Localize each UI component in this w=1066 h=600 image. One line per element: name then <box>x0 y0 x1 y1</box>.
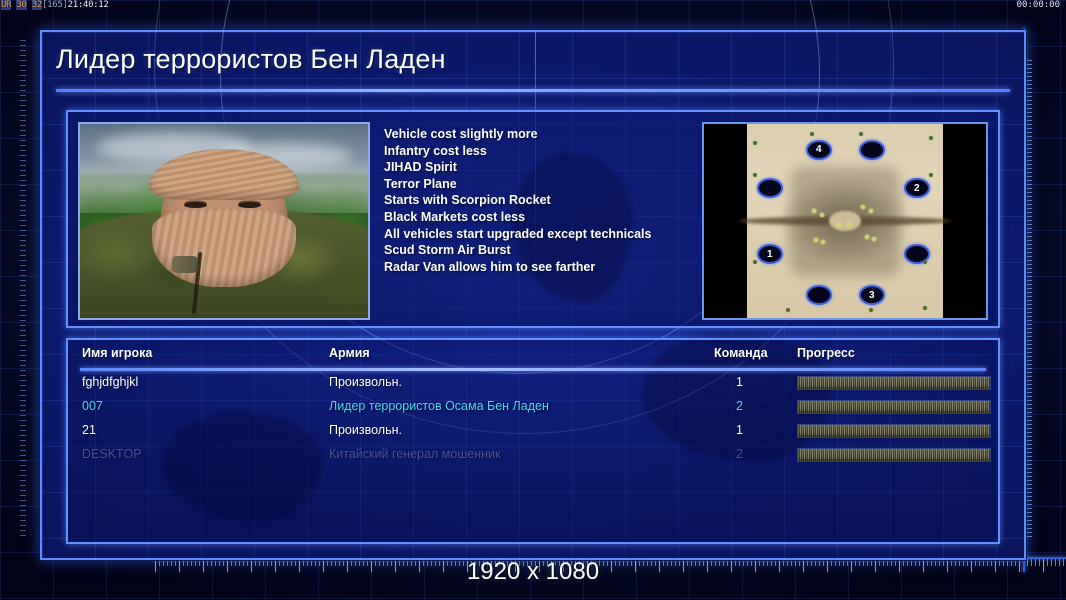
column-header-team: Команда <box>714 346 768 360</box>
player-progress-bar <box>797 376 991 390</box>
map-start-position <box>859 140 885 160</box>
map-tree <box>753 173 757 177</box>
map-preview-box[interactable]: 4 2 1 3 <box>702 122 988 320</box>
mission-timer: 00:00:00 <box>1017 0 1060 10</box>
player-army[interactable]: Китайский генерал мошенник <box>329 447 500 461</box>
map-resource <box>820 213 824 217</box>
map-tree <box>923 306 927 310</box>
general-select-window: Лидер террористов Бен Ладен <box>40 30 1026 560</box>
map-tree <box>929 136 933 140</box>
game-screen: UR 30 32[165]21:40:12 00:00:00 Лидер тер… <box>0 0 1066 600</box>
table-row[interactable]: DESKTOP Китайский генерал мошенник 2 <box>80 444 986 468</box>
table-row[interactable]: 007 Лидер террористов Осама Бен Ладен 2 <box>80 396 986 420</box>
player-name: 007 <box>82 399 103 413</box>
player-rows: fghjdfghjkl Произвольн. 1 007 Лидер терр… <box>80 372 986 468</box>
resolution-label: 1920 x 1080 <box>0 558 1066 586</box>
bonus-item: Vehicle cost slightly more <box>384 126 714 143</box>
map-tree <box>859 132 863 136</box>
player-army[interactable]: Лидер террористов Осама Бен Ладен <box>329 399 549 413</box>
map-resource <box>865 235 869 239</box>
map-start-position: 3 <box>859 285 885 305</box>
player-name: DESKTOP <box>82 447 142 461</box>
player-list-panel: Имя игрока Армия Команда Прогресс fghjdf… <box>66 338 1000 544</box>
map-tree <box>786 308 790 312</box>
portrait-canteen <box>172 256 198 273</box>
map-start-position <box>757 178 783 198</box>
player-team[interactable]: 1 <box>736 375 743 389</box>
player-team[interactable]: 2 <box>736 447 743 461</box>
player-name: fghjdfghjkl <box>82 375 138 389</box>
progress-fill <box>798 377 990 389</box>
general-info-panel: Vehicle cost slightly more Infantry cost… <box>66 110 1000 328</box>
debug-value-2: 32 <box>32 0 42 10</box>
map-tree <box>923 260 927 264</box>
map-start-position: 2 <box>904 178 930 198</box>
player-progress-bar <box>797 448 991 462</box>
portrait-eye-left <box>184 202 207 209</box>
map-tree <box>753 260 757 264</box>
debug-value-3: [165] <box>42 0 68 10</box>
player-army[interactable]: Произвольн. <box>329 375 402 389</box>
column-header-name: Имя игрока <box>82 346 152 360</box>
header-underline <box>80 368 986 371</box>
general-portrait <box>78 122 370 320</box>
bonus-item: Radar Van allows him to see farther <box>384 259 714 276</box>
map-start-position: 4 <box>806 140 832 160</box>
map-tree <box>753 141 757 145</box>
player-team[interactable]: 1 <box>736 423 743 437</box>
bonus-item: Terror Plane <box>384 176 714 193</box>
debug-value-1: 30 <box>16 0 26 10</box>
map-start-position: 1 <box>757 244 783 264</box>
player-team[interactable]: 2 <box>736 399 743 413</box>
bonus-item: JIHAD Spirit <box>384 159 714 176</box>
debug-label-ur: UR <box>1 0 11 10</box>
player-list-header: Имя игрока Армия Команда Прогресс <box>80 346 986 368</box>
left-tick-ruler <box>14 40 26 540</box>
map-center-island <box>829 211 860 230</box>
map-tree <box>869 308 873 312</box>
map-start-position <box>806 285 832 305</box>
bonus-item: Starts with Scorpion Rocket <box>384 192 714 209</box>
right-tick-ruler <box>1025 60 1038 540</box>
player-progress-bar <box>797 400 991 414</box>
column-header-progress: Прогресс <box>797 346 855 360</box>
table-row[interactable]: 21 Произвольн. 1 <box>80 420 986 444</box>
page-title: Лидер террористов Бен Ладен <box>56 44 1010 75</box>
map-tree <box>810 132 814 136</box>
bonus-item: Scud Storm Air Burst <box>384 242 714 259</box>
player-army[interactable]: Произвольн. <box>329 423 402 437</box>
progress-fill <box>798 425 990 437</box>
bonus-item: All vehicles start upgraded except techn… <box>384 226 714 243</box>
map-resource <box>869 209 873 213</box>
bonus-item: Black Markets cost less <box>384 209 714 226</box>
table-row[interactable]: fghjdfghjkl Произвольн. 1 <box>80 372 986 396</box>
title-underline <box>56 89 1010 92</box>
column-header-army: Армия <box>329 346 370 360</box>
bonus-item: Infantry cost less <box>384 143 714 160</box>
progress-fill <box>798 401 990 413</box>
player-progress-bar <box>797 424 991 438</box>
player-name: 21 <box>82 423 96 437</box>
map-tree <box>929 173 933 177</box>
map-terrain: 4 2 1 3 <box>747 124 943 318</box>
debug-time: 21:40:12 <box>68 0 109 10</box>
map-resource <box>847 223 851 227</box>
progress-fill <box>798 449 990 461</box>
general-bonus-list: Vehicle cost slightly more Infantry cost… <box>384 126 714 275</box>
debug-overlay: UR 30 32[165]21:40:12 <box>1 0 109 11</box>
title-bar: Лидер террористов Бен Ладен <box>56 44 1010 88</box>
